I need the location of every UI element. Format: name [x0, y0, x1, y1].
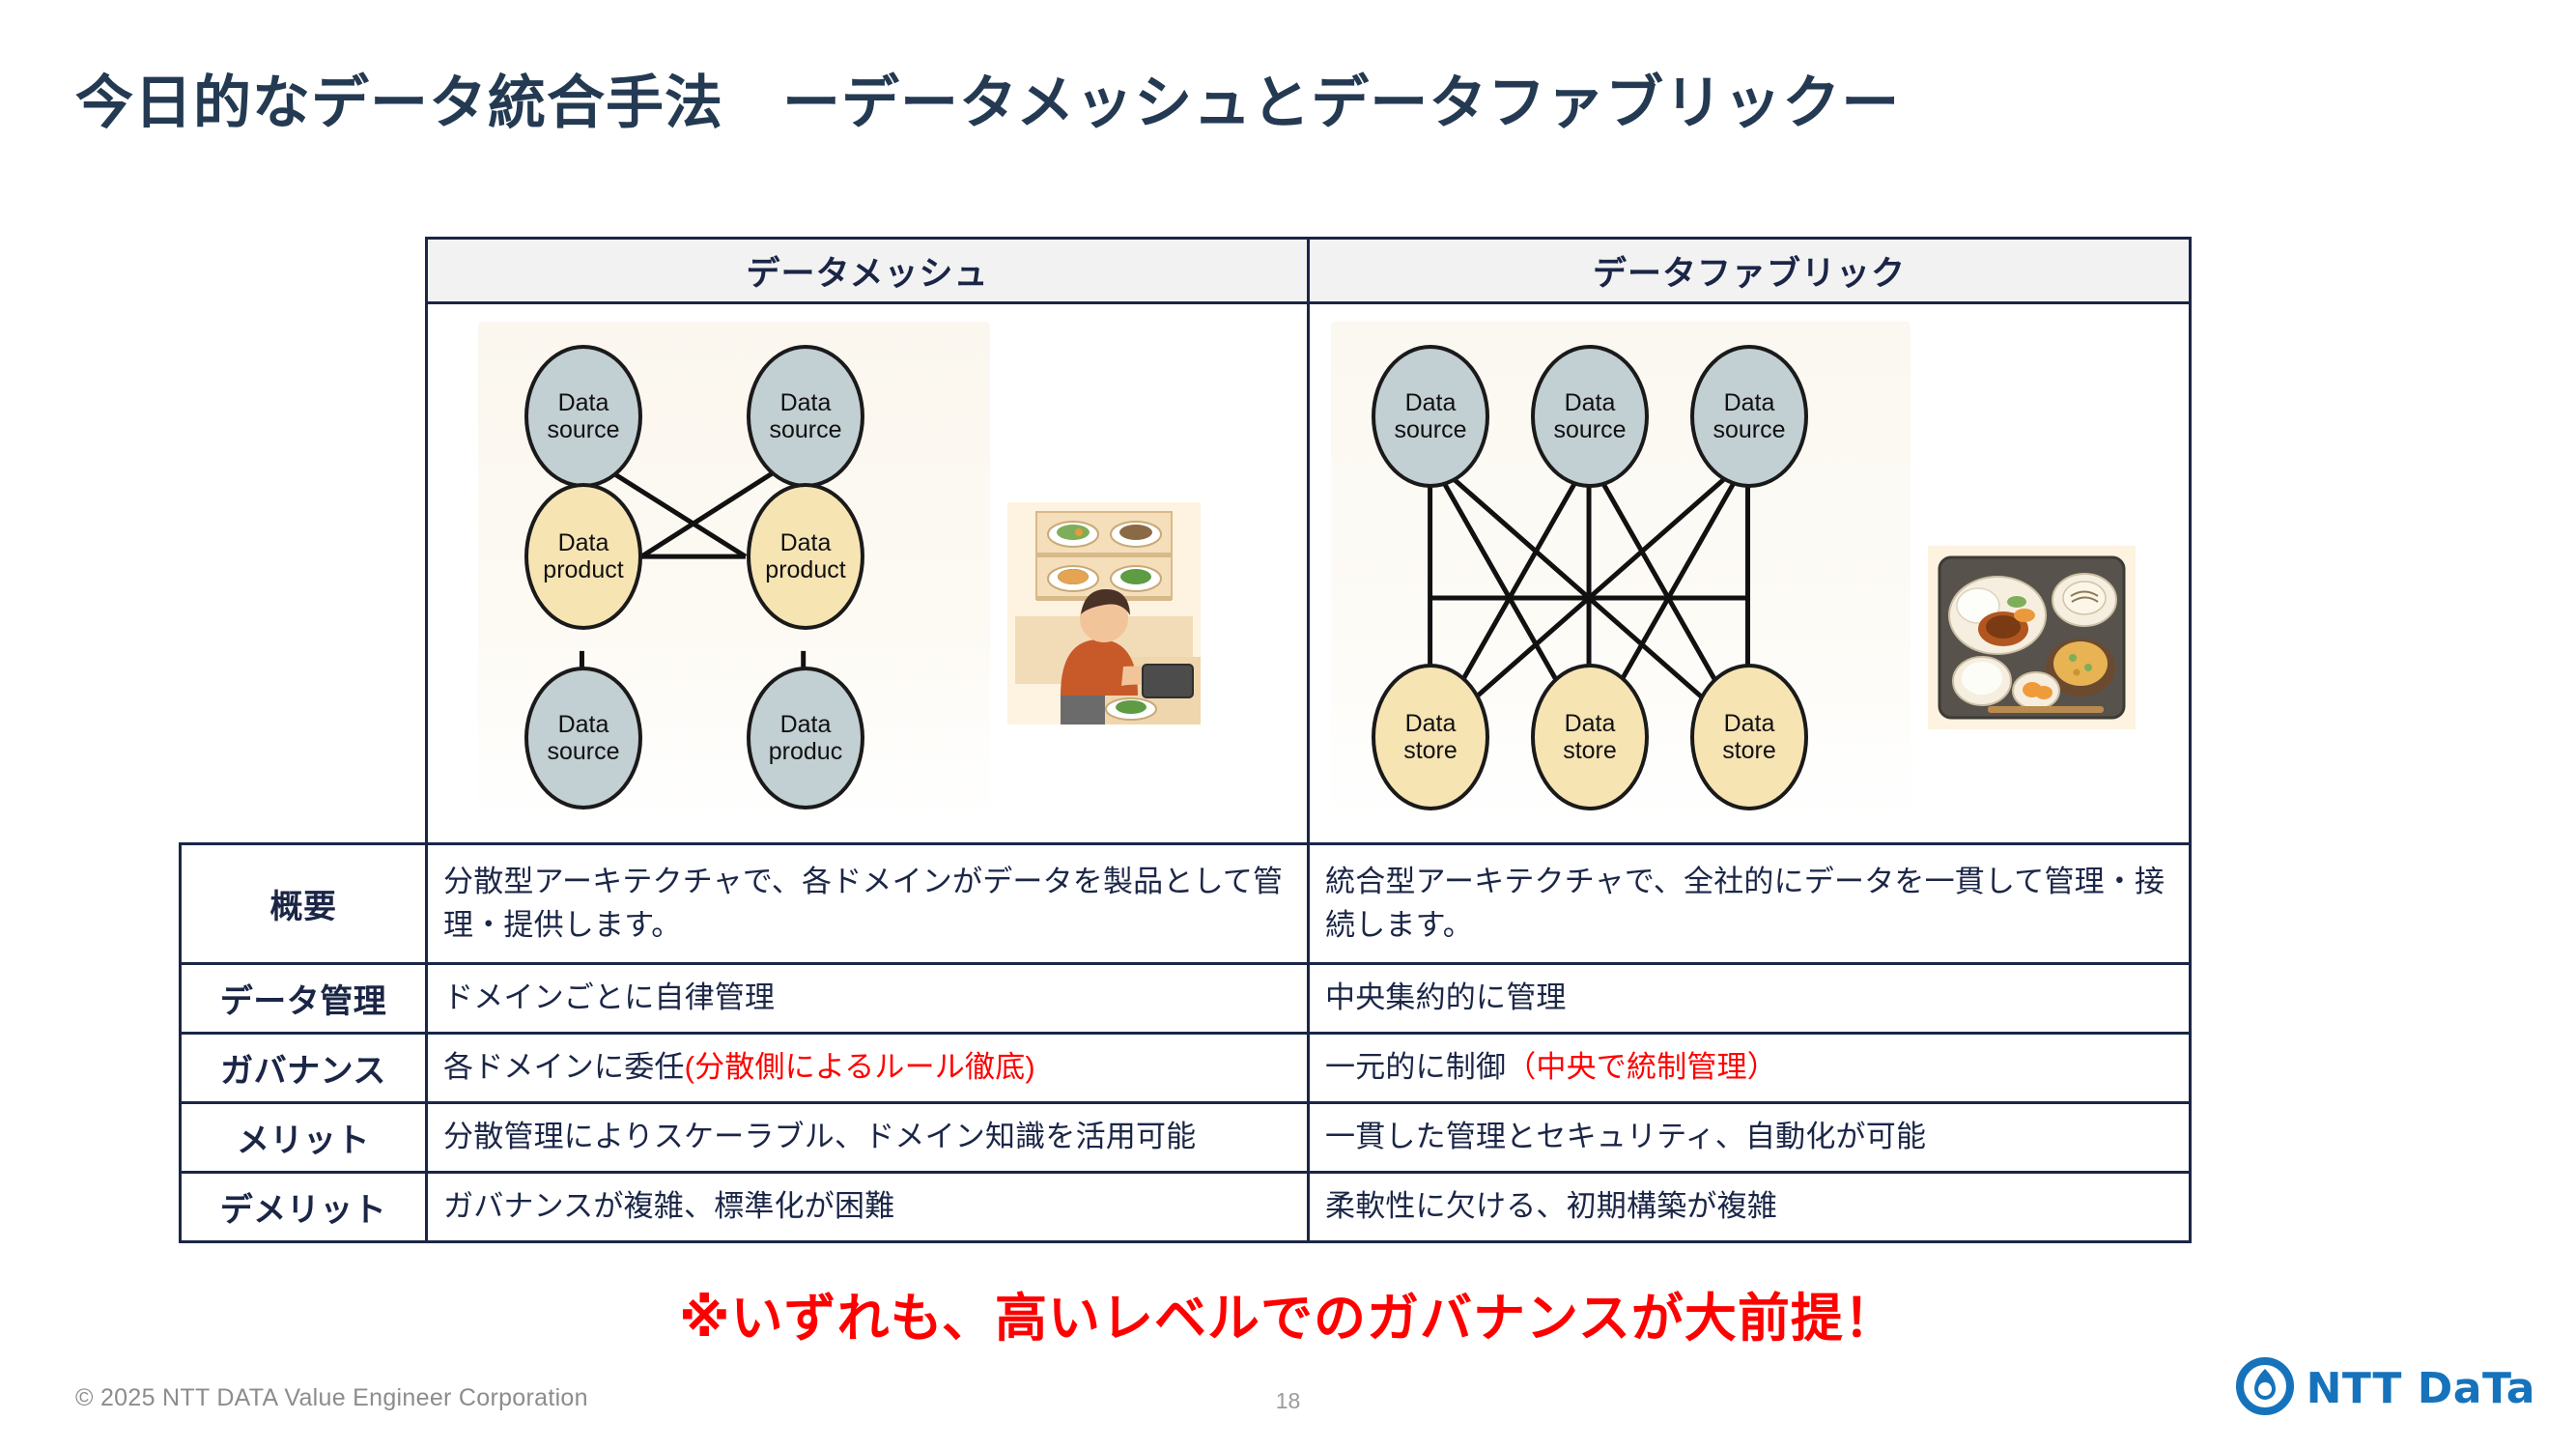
node-line-1: Data — [1405, 710, 1457, 737]
node-line-2: store — [1563, 737, 1617, 764]
fabric-node-data-source-3: Data source — [1690, 345, 1808, 488]
cell-data-management-mesh: ドメインごとに自律管理 — [427, 964, 1309, 1034]
column-header-data-mesh: データメッシュ — [427, 239, 1309, 303]
table-row: メリット 分散管理によりスケーラブル、ドメイン知識を活用可能 一貫した管理とセキ… — [181, 1103, 2191, 1173]
row-label-merit: メリット — [181, 1103, 427, 1173]
diagram-row-blank — [181, 303, 427, 844]
cell-merit-mesh: 分散管理によりスケーラブル、ドメイン知識を活用可能 — [427, 1103, 1309, 1173]
node-line-2: produc — [769, 738, 842, 765]
cell-overview-fabric: 統合型アーキテクチャで、全社的にデータを一貫して管理・接続します。 — [1309, 844, 2191, 964]
fabric-node-data-source-1: Data source — [1372, 345, 1489, 488]
node-line-1: Data — [558, 711, 609, 738]
data-mesh-diagram-cell: Data source Data source Data product Dat… — [427, 303, 1309, 844]
ntt-data-wordmark: NTT DaTa — [2307, 1364, 2535, 1413]
table-row: 概要 分散型アーキテクチャで、各ドメインがデータを製品として管理・提供します。 … — [181, 844, 2191, 964]
cell-data-management-fabric: 中央集約的に管理 — [1309, 964, 2191, 1034]
node-line-1: Data — [558, 529, 609, 556]
node-line-1: Data — [558, 389, 609, 416]
row-label-data-management: データ管理 — [181, 964, 427, 1034]
cell-governance-fabric-plain: 一元的に制御 — [1325, 1050, 1506, 1084]
node-line-2: source — [769, 416, 841, 443]
mesh-node-data-product-1: Data product — [524, 483, 642, 630]
mesh-node-data-source-2: Data source — [747, 345, 864, 488]
brand-logo: NTT DaTa — [2235, 1356, 2535, 1421]
node-line-1: Data — [780, 529, 832, 556]
node-line-1: Data — [1724, 710, 1775, 737]
cell-governance-fabric: 一元的に制御（中央で統制管理） — [1309, 1034, 2191, 1103]
mesh-node-data-source-1: Data source — [524, 345, 642, 488]
mesh-node-data-produc-4: Data produc — [747, 667, 864, 810]
set-meal-tray-illustration — [1928, 546, 2136, 729]
cell-governance-mesh-plain: 各ドメインに委任 — [443, 1050, 685, 1084]
mesh-node-data-product-2: Data product — [747, 483, 864, 630]
node-line-2: source — [547, 738, 619, 765]
ntt-data-circle-logo-icon — [2235, 1356, 2295, 1421]
cell-overview-mesh: 分散型アーキテクチャで、各ドメインがデータを製品として管理・提供します。 — [427, 844, 1309, 964]
table-row: ガバナンス 各ドメインに委任(分散側によるルール徹底) 一元的に制御（中央で統制… — [181, 1034, 2191, 1103]
cell-demerit-mesh: ガバナンスが複雑、標準化が困難 — [427, 1173, 1309, 1242]
header-corner-blank — [181, 239, 427, 303]
fabric-node-data-store-2: Data store — [1531, 664, 1649, 810]
emphasis-note: ※いずれも、高いレベルでのガバナンスが大前提！ — [0, 1275, 2576, 1351]
node-line-1: Data — [1565, 710, 1616, 737]
cell-governance-mesh: 各ドメインに委任(分散側によるルール徹底) — [427, 1034, 1309, 1103]
table: データメッシュ データファブリック — [179, 237, 2192, 1243]
table-row: デメリット ガバナンスが複雑、標準化が困難 柔軟性に欠ける、初期構築が複雑 — [181, 1173, 2191, 1242]
node-line-1: Data — [780, 389, 832, 416]
node-line-2: source — [1394, 416, 1466, 443]
node-line-2: product — [543, 556, 623, 583]
node-line-2: source — [547, 416, 619, 443]
fabric-node-data-source-2: Data source — [1531, 345, 1649, 488]
cell-governance-fabric-highlight: （中央で統制管理） — [1506, 1050, 1777, 1084]
page-title: 今日的なデータ統合手法 ーデータメッシュとデータファブリックー — [75, 56, 1900, 140]
cell-demerit-fabric: 柔軟性に欠ける、初期構築が複雑 — [1309, 1173, 2191, 1242]
node-line-2: store — [1722, 737, 1776, 764]
fabric-node-data-store-1: Data store — [1372, 664, 1489, 810]
node-line-1: Data — [780, 711, 832, 738]
page-number: 18 — [0, 1388, 2576, 1414]
table-row: データ管理 ドメインごとに自律管理 中央集約的に管理 — [181, 964, 2191, 1034]
column-header-data-fabric: データファブリック — [1309, 239, 2191, 303]
data-fabric-diagram-cell: Data source Data source Data source Data… — [1309, 303, 2191, 844]
node-line-1: Data — [1565, 389, 1616, 416]
node-line-2: product — [765, 556, 845, 583]
node-line-1: Data — [1724, 389, 1775, 416]
fabric-node-data-store-3: Data store — [1690, 664, 1808, 810]
cafeteria-staff-illustration — [1007, 502, 1201, 724]
table-header-row: データメッシュ データファブリック — [181, 239, 2191, 303]
node-line-2: source — [1553, 416, 1626, 443]
row-label-demerit: デメリット — [181, 1173, 427, 1242]
cell-governance-mesh-highlight: (分散側によるルール徹底) — [685, 1050, 1035, 1084]
row-label-governance: ガバナンス — [181, 1034, 427, 1103]
node-line-1: Data — [1405, 389, 1457, 416]
row-label-overview: 概要 — [181, 844, 427, 964]
diagram-row: Data source Data source Data product Dat… — [181, 303, 2191, 844]
node-line-2: store — [1403, 737, 1458, 764]
cell-merit-fabric: 一貫した管理とセキュリティ、自動化が可能 — [1309, 1103, 2191, 1173]
node-line-2: source — [1713, 416, 1785, 443]
mesh-node-data-source-3: Data source — [524, 667, 642, 810]
comparison-table: データメッシュ データファブリック — [179, 237, 2189, 1234]
